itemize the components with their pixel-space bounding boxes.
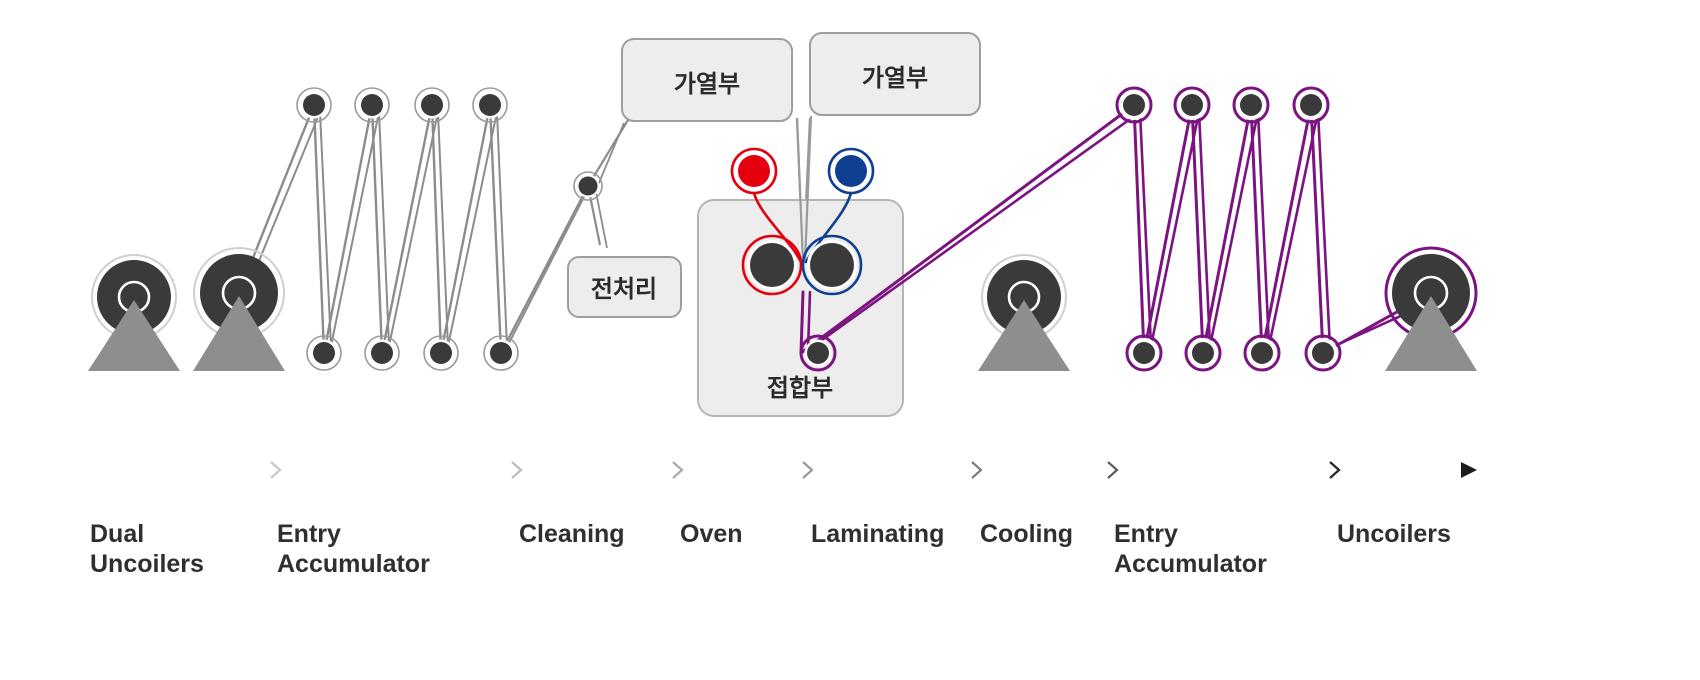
roller-top-3[interactable] bbox=[415, 88, 449, 122]
stage-label-line: Accumulator bbox=[277, 550, 430, 578]
roller-p-top-3[interactable] bbox=[1234, 88, 1268, 122]
roller-top-2[interactable] bbox=[355, 88, 389, 122]
stage-label-uncoilers: Uncoilers bbox=[1337, 520, 1451, 548]
roller-p-top-4[interactable] bbox=[1294, 88, 1328, 122]
stage-label-oven: Oven bbox=[680, 520, 743, 548]
flow-axis-arrowhead bbox=[1461, 462, 1477, 478]
roller-p-bottom-3[interactable] bbox=[1245, 336, 1279, 370]
stage-labels: Dual Uncoilers Entry Accumulator Cleanin… bbox=[90, 520, 1451, 578]
box-heating-2-label: 가열부 bbox=[862, 65, 928, 92]
stage-label-cooling: Cooling bbox=[980, 520, 1073, 548]
box-pretreatment-label: 전처리 bbox=[591, 276, 657, 303]
stage-label-entry-accumulator-1: Entry Accumulator bbox=[277, 520, 430, 578]
cooling-drum[interactable] bbox=[978, 255, 1070, 371]
box-heating-1-label: 가열부 bbox=[674, 71, 740, 98]
roller-p-bottom-4[interactable] bbox=[1306, 336, 1340, 370]
roller-p-bottom-1[interactable] bbox=[1127, 336, 1161, 370]
uncoiler-2[interactable] bbox=[193, 248, 285, 371]
stage-label-line: Accumulator bbox=[1114, 550, 1267, 578]
stage-label-line: Dual bbox=[90, 520, 144, 548]
entry-accumulator-1-strip bbox=[239, 105, 588, 353]
stage-label-entry-accumulator-2: Entry Accumulator bbox=[1114, 520, 1267, 578]
stage-label-line: Entry bbox=[1114, 520, 1178, 548]
roller-top-4[interactable] bbox=[473, 88, 507, 122]
roller-p-top-2[interactable] bbox=[1175, 88, 1209, 122]
cleaning-roller[interactable] bbox=[574, 172, 602, 200]
box-bonding-label: 접합부 bbox=[767, 375, 833, 402]
roller-blue-feed[interactable] bbox=[833, 153, 870, 190]
stage-label-line: Laminating bbox=[811, 520, 944, 548]
stage-label-dual-uncoilers: Dual Uncoilers bbox=[90, 520, 204, 578]
roller-red-feed[interactable] bbox=[736, 153, 773, 190]
roller-p-bottom-2[interactable] bbox=[1186, 336, 1220, 370]
roller-bottom-2[interactable] bbox=[365, 336, 399, 370]
stage-label-cleaning: Cleaning bbox=[519, 520, 625, 548]
diagram-canvas: 가열부 가열부 전처리 접합부 bbox=[0, 0, 1700, 680]
stage-label-line: Cooling bbox=[980, 520, 1073, 548]
box-pretreatment[interactable]: 전처리 bbox=[568, 257, 681, 317]
roller-bottom-1[interactable] bbox=[307, 336, 341, 370]
roller-bottom-4[interactable] bbox=[484, 336, 518, 370]
stage-label-line: Cleaning bbox=[519, 520, 625, 548]
box-heating-1[interactable]: 가열부 bbox=[622, 39, 792, 121]
roller-top-1[interactable] bbox=[297, 88, 331, 122]
box-bonding[interactable]: 접합부 bbox=[698, 200, 903, 416]
stage-label-line: Oven bbox=[680, 520, 743, 548]
stage-label-line: Uncoilers bbox=[90, 550, 204, 578]
roller-p-top-1[interactable] bbox=[1117, 88, 1151, 122]
stage-label-laminating: Laminating bbox=[811, 520, 944, 548]
nip-roller-right[interactable] bbox=[807, 240, 857, 290]
stage-label-line: Uncoilers bbox=[1337, 520, 1451, 548]
roller-bottom-3[interactable] bbox=[424, 336, 458, 370]
box-heating-2[interactable]: 가열부 bbox=[810, 33, 980, 115]
uncoiler-out[interactable] bbox=[1385, 248, 1477, 371]
uncoiler-1[interactable] bbox=[88, 255, 180, 371]
flow-axis bbox=[90, 462, 1477, 478]
stage-label-line: Entry bbox=[277, 520, 341, 548]
process-flow-diagram: 가열부 가열부 전처리 접합부 bbox=[0, 0, 1700, 680]
nip-roller-left[interactable] bbox=[747, 240, 797, 290]
